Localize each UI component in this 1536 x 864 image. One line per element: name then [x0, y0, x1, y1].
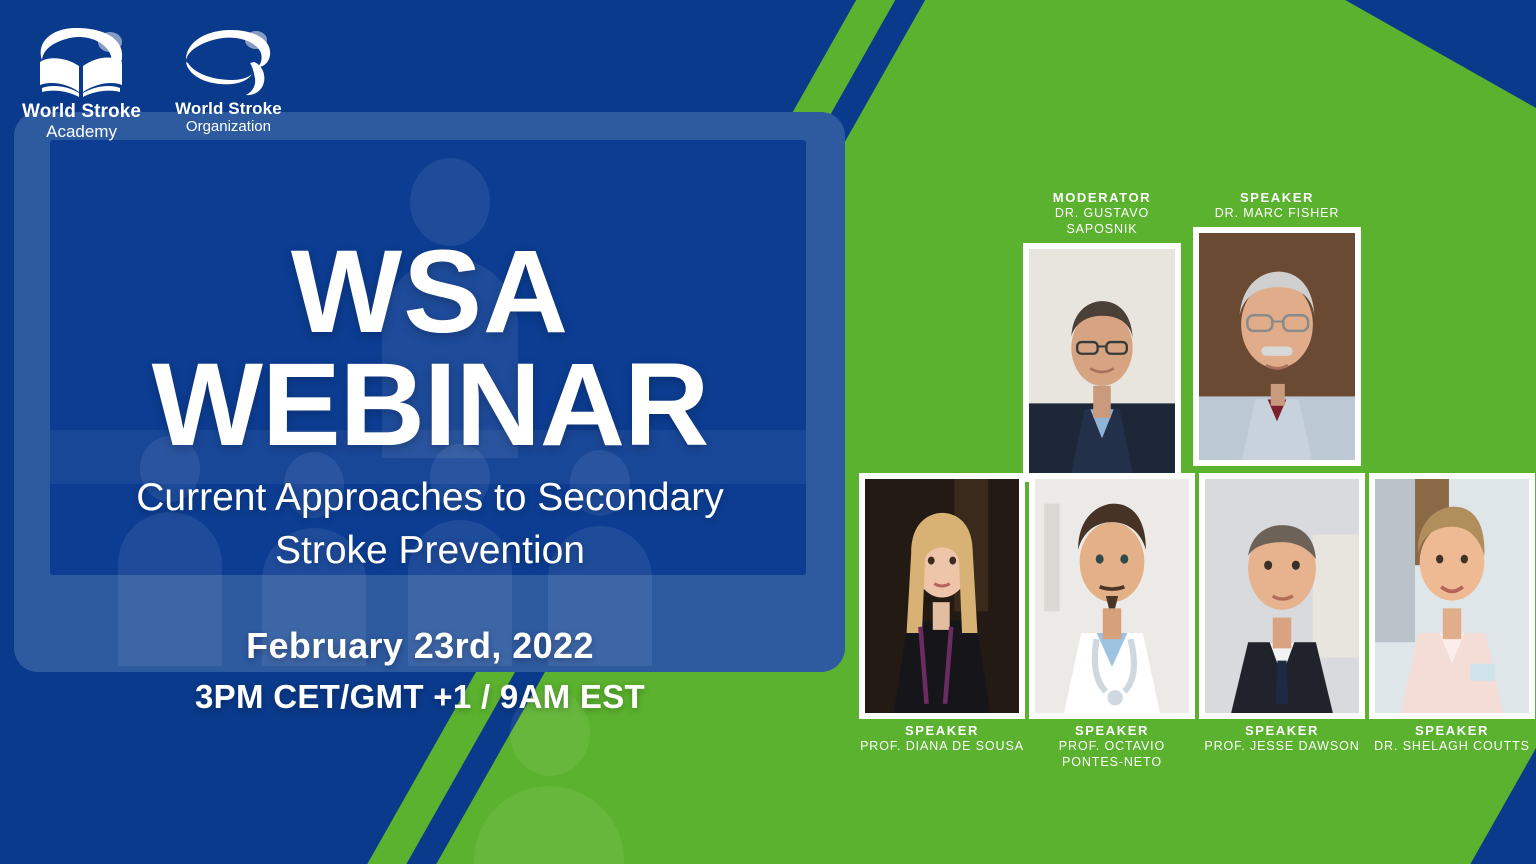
- logo-group: World Stroke Academy World Stroke Organi…: [22, 22, 282, 141]
- speaker-name: DR. MARC FISHER: [1193, 206, 1361, 222]
- logo-academy-line1: World Stroke: [22, 102, 141, 122]
- logo-academy-line2: Academy: [46, 122, 117, 142]
- speaker-name: PROF. OCTAVIO PONTES-NETO: [1029, 739, 1195, 770]
- speaker-caption: SPEAKER DR. SHELAGH COUTTS: [1369, 723, 1535, 755]
- subtitle-line-1: Current Approaches to Secondary: [40, 472, 820, 525]
- speaker-card-saposnik[interactable]: MODERATOR DR. GUSTAVO SAPOSNIK: [1023, 190, 1181, 482]
- webinar-promo-graphic: World Stroke Academy World Stroke Organi…: [0, 0, 1536, 864]
- photo-frame: [1029, 473, 1195, 719]
- speaker-role: SPEAKER: [1193, 190, 1361, 206]
- speaker-caption: SPEAKER PROF. DIANA DE SOUSA: [859, 723, 1025, 755]
- speaker-grid: MODERATOR DR. GUSTAVO SAPOSNIK: [855, 0, 1536, 864]
- speaker-role: SPEAKER: [1369, 723, 1535, 739]
- subtitle-line-2: Stroke Prevention: [40, 525, 820, 578]
- speaker-card-de-sousa[interactable]: SPEAKER PROF. DIANA DE SOUSA: [859, 473, 1025, 755]
- brain-swoosh-icon: [176, 22, 280, 100]
- speaker-card-fisher[interactable]: SPEAKER DR. MARC FISHER: [1193, 190, 1361, 466]
- portrait-gustavo-saposnik: [1029, 249, 1175, 476]
- logo-world-stroke-academy: World Stroke Academy: [22, 22, 141, 141]
- photo-frame: [1193, 227, 1361, 466]
- speaker-role: SPEAKER: [859, 723, 1025, 739]
- audience-silhouette-5: [474, 690, 624, 864]
- page-subtitle: Current Approaches to Secondary Stroke P…: [40, 472, 820, 577]
- portrait-shelagh-coutts: [1375, 479, 1529, 713]
- title-line-2: WEBINAR: [0, 349, 860, 462]
- portrait-diana-de-sousa: [865, 479, 1019, 713]
- page-title: WSA WEBINAR: [0, 236, 860, 463]
- speaker-card-dawson[interactable]: SPEAKER PROF. JESSE DAWSON: [1199, 473, 1365, 755]
- speaker-name: PROF. DIANA DE SOUSA: [859, 739, 1025, 755]
- speaker-role: MODERATOR: [1023, 190, 1181, 206]
- logo-organization-line1: World Stroke: [175, 100, 282, 118]
- speaker-name: DR. SHELAGH COUTTS: [1369, 739, 1535, 755]
- title-line-1: WSA: [0, 236, 860, 349]
- photo-frame: [1369, 473, 1535, 719]
- photo-frame: [859, 473, 1025, 719]
- speaker-name: PROF. JESSE DAWSON: [1199, 739, 1365, 755]
- logo-world-stroke-organization: World Stroke Organization: [175, 22, 282, 135]
- speaker-caption: MODERATOR DR. GUSTAVO SAPOSNIK: [1023, 190, 1181, 238]
- event-time: 3PM CET/GMT +1 / 9AM EST: [0, 678, 840, 716]
- event-date: February 23rd, 2022: [0, 625, 840, 667]
- speaker-caption: SPEAKER PROF. OCTAVIO PONTES-NETO: [1029, 723, 1195, 771]
- portrait-marc-fisher: [1199, 233, 1355, 460]
- speaker-name: DR. GUSTAVO SAPOSNIK: [1023, 206, 1181, 237]
- portrait-octavio-pontes-neto: [1035, 479, 1189, 713]
- speaker-card-coutts[interactable]: SPEAKER DR. SHELAGH COUTTS: [1369, 473, 1535, 755]
- speaker-role: SPEAKER: [1199, 723, 1365, 739]
- photo-frame: [1199, 473, 1365, 719]
- open-book-brain-icon: [26, 22, 138, 102]
- speaker-role: SPEAKER: [1029, 723, 1195, 739]
- photo-frame: [1023, 243, 1181, 482]
- portrait-jesse-dawson: [1205, 479, 1359, 713]
- speaker-caption: SPEAKER DR. MARC FISHER: [1193, 190, 1361, 222]
- logo-organization-line2: Organization: [186, 118, 271, 135]
- speaker-card-pontes-neto[interactable]: SPEAKER PROF. OCTAVIO PONTES-NETO: [1029, 473, 1195, 771]
- speaker-caption: SPEAKER PROF. JESSE DAWSON: [1199, 723, 1365, 755]
